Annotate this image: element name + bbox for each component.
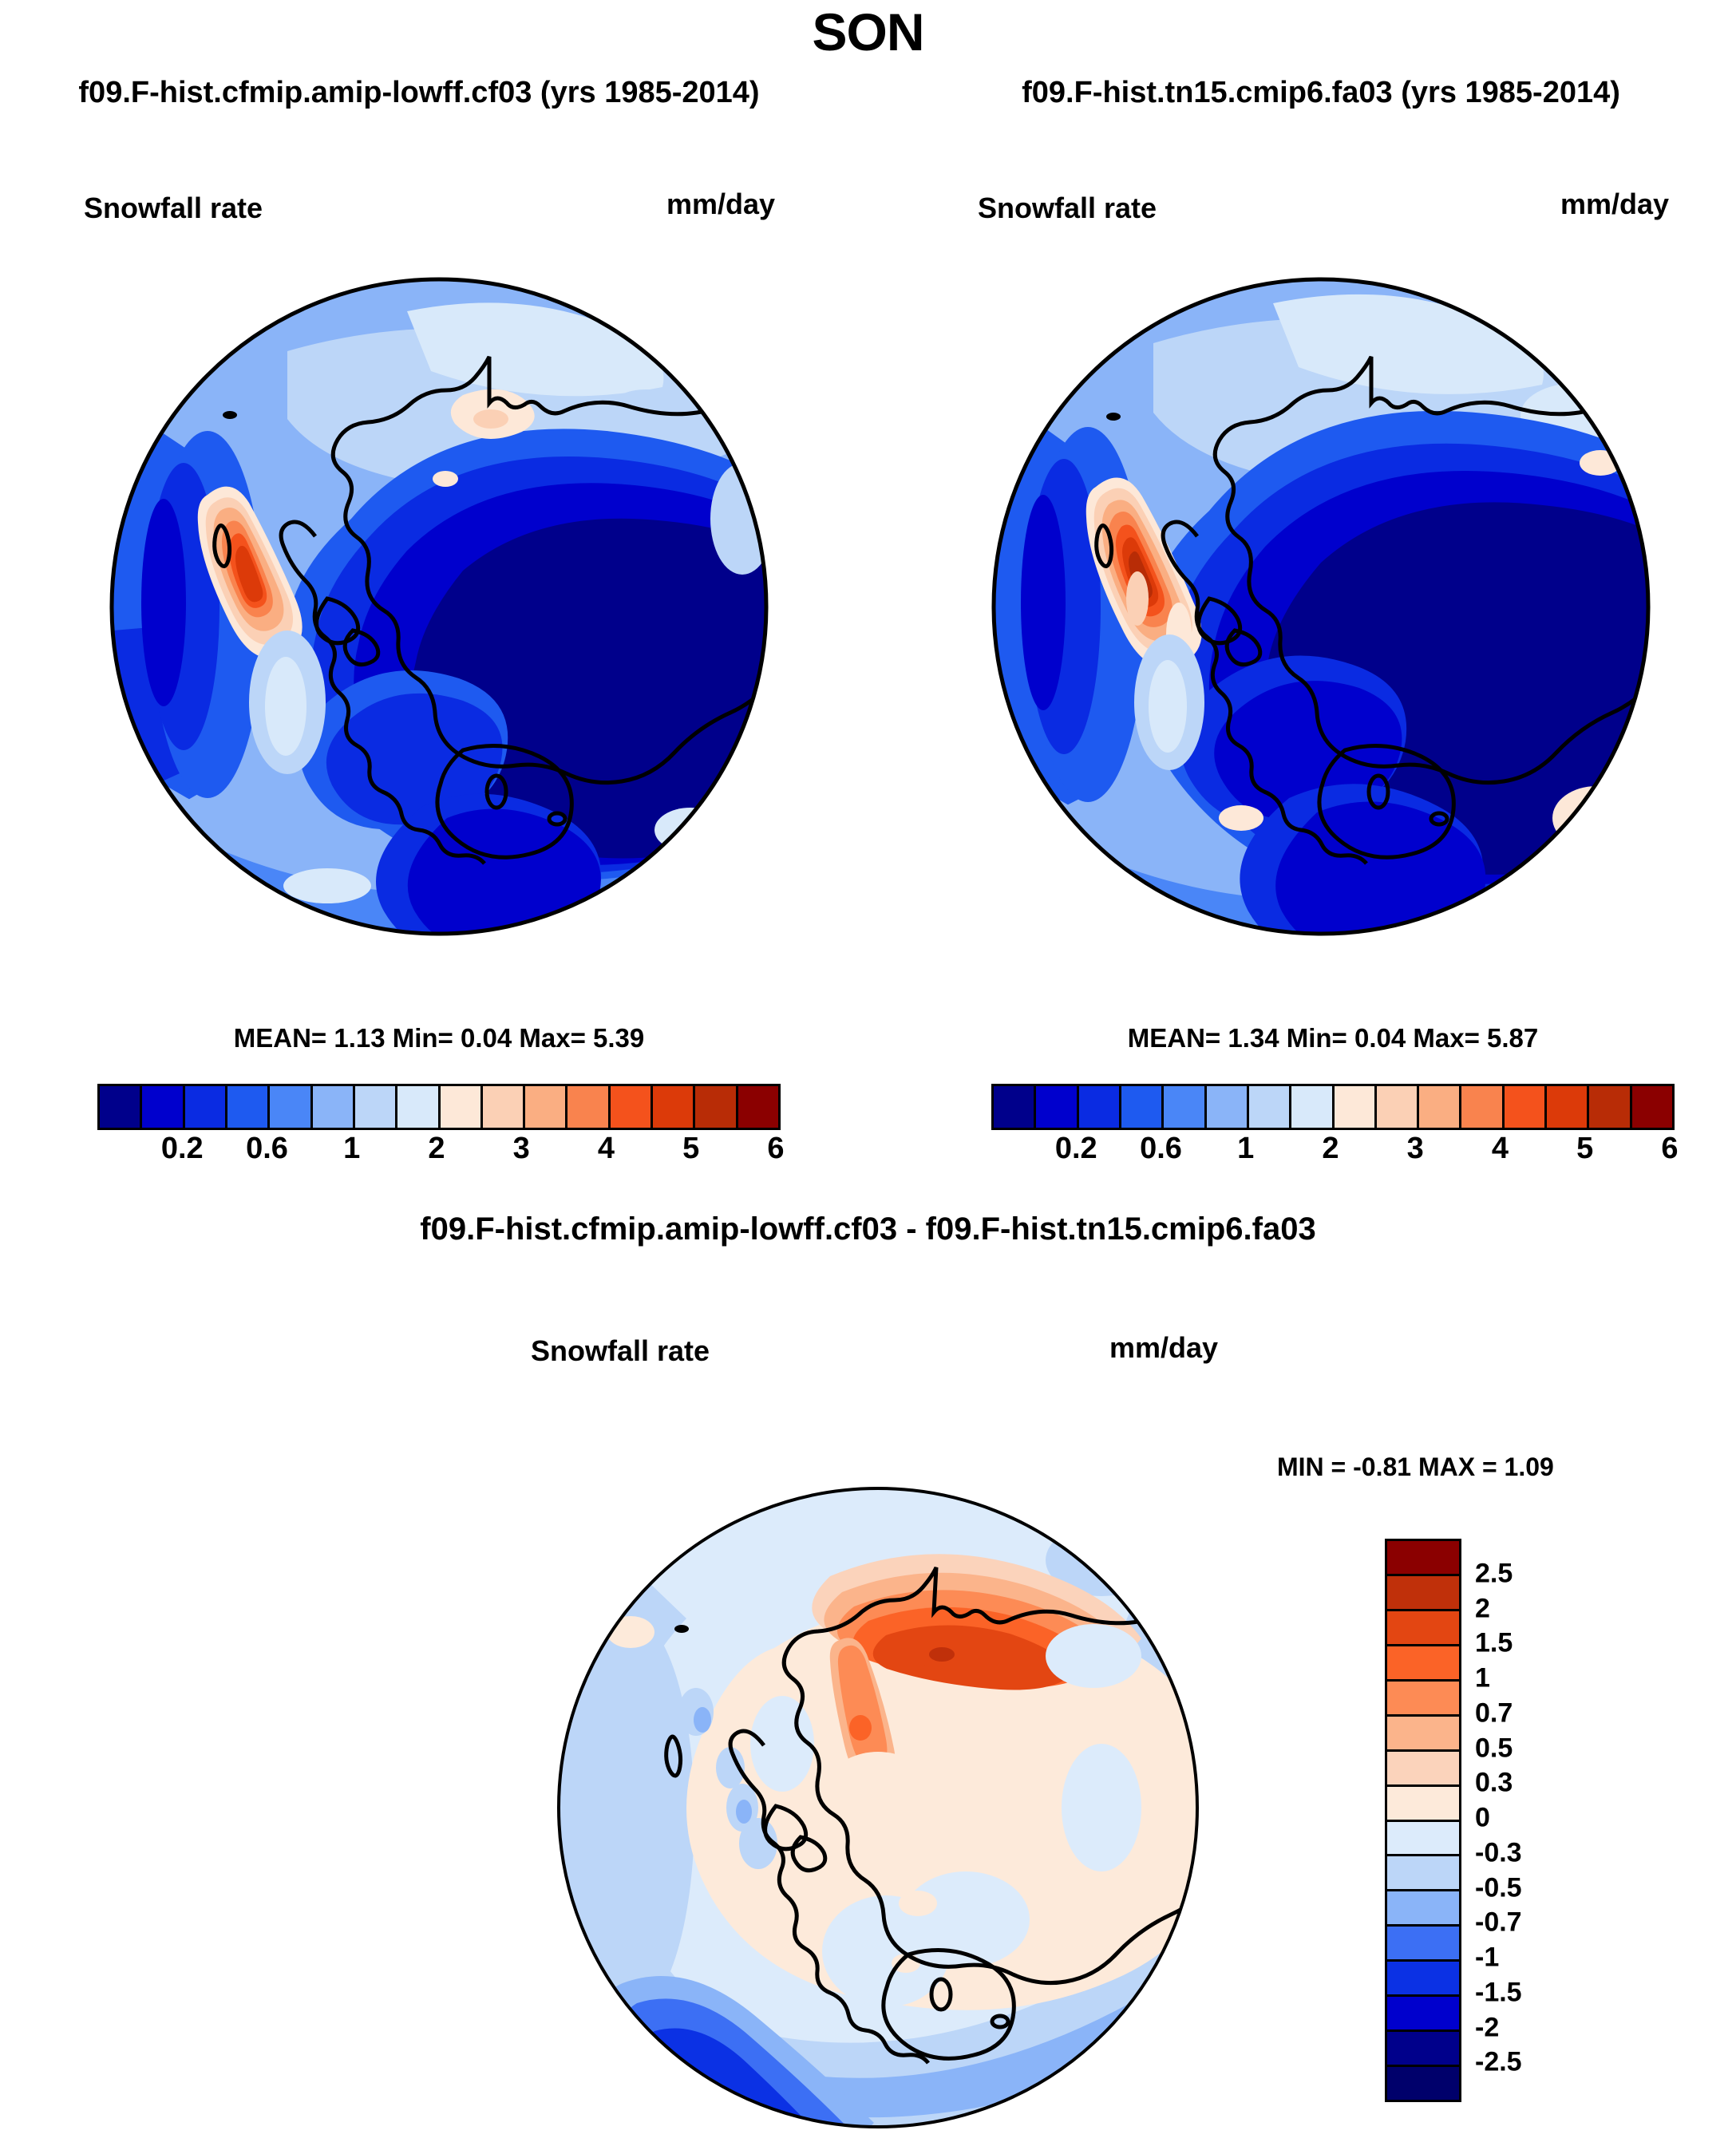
colorbar-cell [525,1086,567,1128]
colorbar-cell [611,1086,653,1128]
colorbar-cell [441,1086,483,1128]
colorbar-cell [695,1086,738,1128]
colorbar-tick-label: 3 [1407,1132,1424,1166]
left-panel-case-title: f09.F-hist.cfmip.amip-lowff.cf03 (yrs 19… [8,76,830,110]
colorbar-tick-label: 1 [1237,1132,1254,1166]
colorbar-tick-label: 1 [343,1132,360,1166]
colorbar-tick-label: -1 [1475,1943,1499,1974]
colorbar-tick-label: 5 [1576,1132,1593,1166]
diff-panel-case-title: f09.F-hist.cfmip.amip-lowff.cf03 - f09.F… [0,1211,1736,1247]
colorbar-cell [1036,1086,1078,1128]
colorbar-tick-label: -0.7 [1475,1907,1522,1939]
left-panel-colorbar-ticks: 0.20.6123456 [97,1132,776,1172]
colorbar-tick-label: -2.5 [1475,2047,1522,2078]
colorbar-cell [1632,1086,1672,1128]
colorbar-cell [1377,1086,1419,1128]
diff-panel-colorbar [1385,1539,1461,2102]
left-panel-map [88,255,790,958]
right-panel-units-label: mm/day [1560,188,1669,221]
colorbar-tick-label: 0 [1475,1803,1490,1834]
colorbar-tick-label: 0.5 [1475,1733,1513,1764]
colorbar-cell [397,1086,440,1128]
colorbar-cell [1387,1717,1459,1752]
right-panel-map [970,255,1672,958]
colorbar-cell [653,1086,695,1128]
colorbar-tick-label: 0.6 [246,1132,288,1166]
colorbar-cell [1387,1646,1459,1682]
colorbar-tick-label: 1.5 [1475,1628,1513,1659]
colorbar-cell [994,1086,1036,1128]
colorbar-cell [1387,1962,1459,1997]
colorbar-tick-label: -1.5 [1475,1977,1522,2008]
colorbar-cell [1387,1856,1459,1891]
colorbar-cell [1387,1752,1459,1787]
colorbar-tick-label: -0.3 [1475,1837,1522,1868]
colorbar-cell [1387,1997,1459,2032]
colorbar-cell [1387,1611,1459,1646]
colorbar-tick-label: 1 [1475,1663,1490,1694]
colorbar-tick-label: 4 [598,1132,615,1166]
colorbar-cell [100,1086,142,1128]
colorbar-cell [1164,1086,1206,1128]
colorbar-tick-label: 3 [513,1132,530,1166]
colorbar-tick-label: 4 [1492,1132,1509,1166]
colorbar-cell [1079,1086,1121,1128]
colorbar-tick-label: 0.2 [161,1132,204,1166]
colorbar-cell [1387,1822,1459,1857]
colorbar-cell [1249,1086,1291,1128]
colorbar-cell [1461,1086,1504,1128]
colorbar-tick-label: 2 [1475,1593,1490,1624]
right-panel-stats: MEAN= 1.34 Min= 0.04 Max= 5.87 [974,1023,1692,1053]
colorbar-tick-label: -0.5 [1475,1872,1522,1903]
colorbar-tick-label: 2 [428,1132,445,1166]
colorbar-cell [1387,1927,1459,1962]
colorbar-cell [227,1086,270,1128]
colorbar-cell [355,1086,397,1128]
colorbar-cell [1121,1086,1164,1128]
colorbar-cell [185,1086,227,1128]
left-panel-variable-label: Snowfall rate [84,192,263,225]
colorbar-tick-label: 0.3 [1475,1768,1513,1799]
colorbar-cell [1387,1891,1459,1927]
colorbar-cell [483,1086,525,1128]
diff-panel-minmax: MIN = -0.81 MAX = 1.09 [1277,1452,1554,1482]
colorbar-tick-label: -2 [1475,2012,1499,2043]
colorbar-cell [1387,2067,1459,2100]
colorbar-tick-label: 2 [1322,1132,1339,1166]
colorbar-cell [567,1086,610,1128]
colorbar-cell [1335,1086,1377,1128]
season-title: SON [0,2,1736,62]
colorbar-cell [1547,1086,1589,1128]
colorbar-cell [142,1086,184,1128]
colorbar-cell [1589,1086,1631,1128]
left-panel-units-label: mm/day [666,188,775,221]
colorbar-cell [1387,1787,1459,1822]
colorbar-tick-label: 0.7 [1475,1697,1513,1729]
diff-panel-variable-label: Snowfall rate [531,1334,710,1368]
colorbar-cell [1207,1086,1249,1128]
colorbar-cell [1387,2032,1459,2067]
colorbar-tick-label: 0.2 [1055,1132,1097,1166]
colorbar-cell [738,1086,778,1128]
diff-panel-map [543,1472,1213,2143]
left-panel-stats: MEAN= 1.13 Min= 0.04 Max= 5.39 [80,1023,798,1053]
colorbar-tick-label: 6 [767,1132,784,1166]
colorbar-cell [313,1086,355,1128]
right-panel-colorbar [991,1084,1675,1130]
colorbar-tick-label: 2.5 [1475,1558,1513,1589]
colorbar-cell [1387,1682,1459,1717]
colorbar-tick-label: 0.6 [1140,1132,1182,1166]
right-panel-case-title: f09.F-hist.tn15.cmip6.fa03 (yrs 1985-201… [910,76,1732,110]
colorbar-cell [1387,1576,1459,1611]
diff-panel-units-label: mm/day [1109,1331,1218,1365]
right-panel-colorbar-ticks: 0.20.6123456 [991,1132,1670,1172]
colorbar-cell [1505,1086,1547,1128]
left-panel-colorbar [97,1084,781,1130]
colorbar-cell [1419,1086,1461,1128]
colorbar-cell [270,1086,312,1128]
colorbar-tick-label: 5 [682,1132,699,1166]
colorbar-cell [1291,1086,1334,1128]
colorbar-tick-label: 6 [1661,1132,1678,1166]
right-panel-variable-label: Snowfall rate [978,192,1157,225]
colorbar-cell [1387,1541,1459,1576]
